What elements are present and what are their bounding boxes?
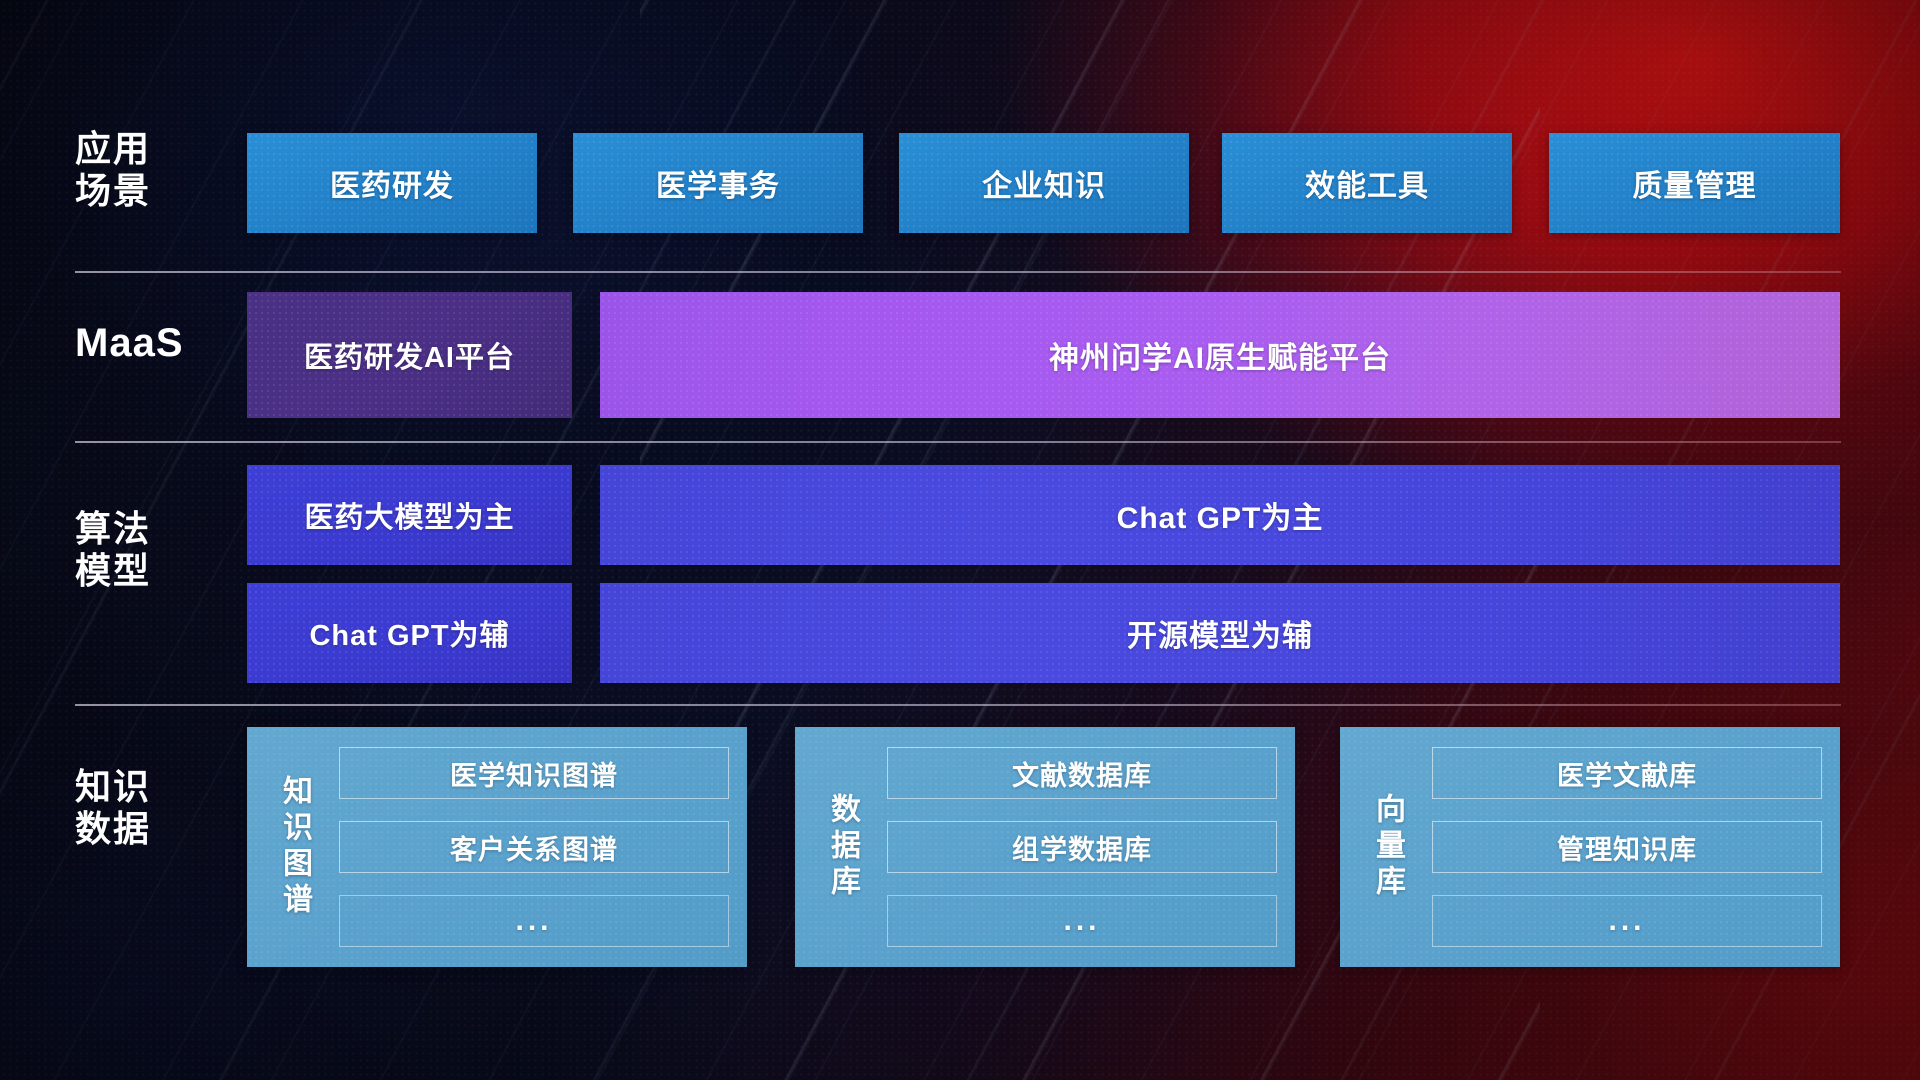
- maas-box-label: 医药研发AI平台: [304, 334, 515, 376]
- algo-box-label: Chat GPT为辅: [309, 612, 509, 654]
- app-box-yiyao-yanfa[interactable]: 医药研发: [247, 133, 537, 233]
- row-label-line: 场景: [75, 170, 235, 212]
- row-label-line: MaaS: [75, 320, 235, 367]
- architecture-diagram: 应用 场景 医药研发 医学事务 企业知识 效能工具 质量管理 MaaS 医药研发…: [0, 0, 1920, 1080]
- knowledge-item[interactable]: 医学知识图谱: [339, 747, 729, 799]
- knowledge-item[interactable]: 客户关系图谱: [339, 821, 729, 873]
- row-label-knowledge-data: 知识 数据: [75, 766, 235, 851]
- app-box-label: 医学事务: [656, 161, 780, 205]
- row-label-application-scenarios: 应用 场景: [75, 128, 235, 213]
- app-box-label: 质量管理: [1633, 161, 1757, 205]
- row-label-line: 应用: [75, 128, 235, 170]
- row-label-algorithm-model: 算法 模型: [75, 508, 235, 593]
- row-label-maas: MaaS: [75, 320, 235, 367]
- app-box-yixue-shiwu[interactable]: 医学事务: [573, 133, 863, 233]
- algo-box-label: Chat GPT为主: [1117, 493, 1324, 537]
- algo-box-chatgpt-primary[interactable]: Chat GPT为主: [600, 465, 1840, 565]
- app-box-qiye-zhishi[interactable]: 企业知识: [899, 133, 1189, 233]
- maas-box-medical-rd-ai-platform[interactable]: 医药研发AI平台: [247, 292, 572, 418]
- maas-box-shenzhou-wenxue-platform[interactable]: 神州问学AI原生赋能平台: [600, 292, 1840, 418]
- knowledge-panel-vector-db[interactable]: 向量库 医学文献库 管理知识库 ...: [1340, 727, 1840, 967]
- knowledge-item-more[interactable]: ...: [887, 895, 1277, 947]
- algo-box-opensource-secondary[interactable]: 开源模型为辅: [600, 583, 1840, 683]
- knowledge-item[interactable]: 医学文献库: [1432, 747, 1822, 799]
- app-box-xiaoneng-gongju[interactable]: 效能工具: [1222, 133, 1512, 233]
- row-label-line: 数据: [75, 808, 235, 850]
- app-box-label: 效能工具: [1305, 161, 1429, 205]
- row-divider-1: [75, 271, 1841, 273]
- row-divider-3: [75, 704, 1841, 706]
- algo-box-label: 开源模型为辅: [1127, 611, 1313, 655]
- knowledge-item[interactable]: 组学数据库: [887, 821, 1277, 873]
- row-label-line: 算法: [75, 508, 235, 550]
- knowledge-panel-label: 知识图谱: [261, 739, 327, 955]
- algo-box-label: 医药大模型为主: [304, 494, 514, 536]
- app-box-label: 医药研发: [330, 161, 454, 205]
- slide-canvas: 应用 场景 医药研发 医学事务 企业知识 效能工具 质量管理 MaaS 医药研发…: [0, 0, 1920, 1080]
- knowledge-panel-database[interactable]: 数据库 文献数据库 组学数据库 ...: [795, 727, 1295, 967]
- knowledge-item[interactable]: 文献数据库: [887, 747, 1277, 799]
- knowledge-item-more[interactable]: ...: [339, 895, 729, 947]
- row-divider-2: [75, 441, 1841, 443]
- knowledge-panel-item-list: 文献数据库 组学数据库 ...: [875, 739, 1281, 955]
- algo-box-medical-llm-primary[interactable]: 医药大模型为主: [247, 465, 572, 565]
- row-label-line: 模型: [75, 550, 235, 592]
- knowledge-panel-item-list: 医学知识图谱 客户关系图谱 ...: [327, 739, 733, 955]
- knowledge-panel-label: 数据库: [809, 739, 875, 955]
- app-box-label: 企业知识: [982, 161, 1106, 205]
- app-box-zhiliang-guanli[interactable]: 质量管理: [1549, 133, 1840, 233]
- knowledge-panel-item-list: 医学文献库 管理知识库 ...: [1420, 739, 1826, 955]
- maas-box-label: 神州问学AI原生赋能平台: [1049, 333, 1391, 377]
- knowledge-item[interactable]: 管理知识库: [1432, 821, 1822, 873]
- algo-box-chatgpt-secondary[interactable]: Chat GPT为辅: [247, 583, 572, 683]
- row-label-line: 知识: [75, 766, 235, 808]
- knowledge-item-more[interactable]: ...: [1432, 895, 1822, 947]
- knowledge-panel-knowledge-graph[interactable]: 知识图谱 医学知识图谱 客户关系图谱 ...: [247, 727, 747, 967]
- knowledge-panel-label: 向量库: [1354, 739, 1420, 955]
